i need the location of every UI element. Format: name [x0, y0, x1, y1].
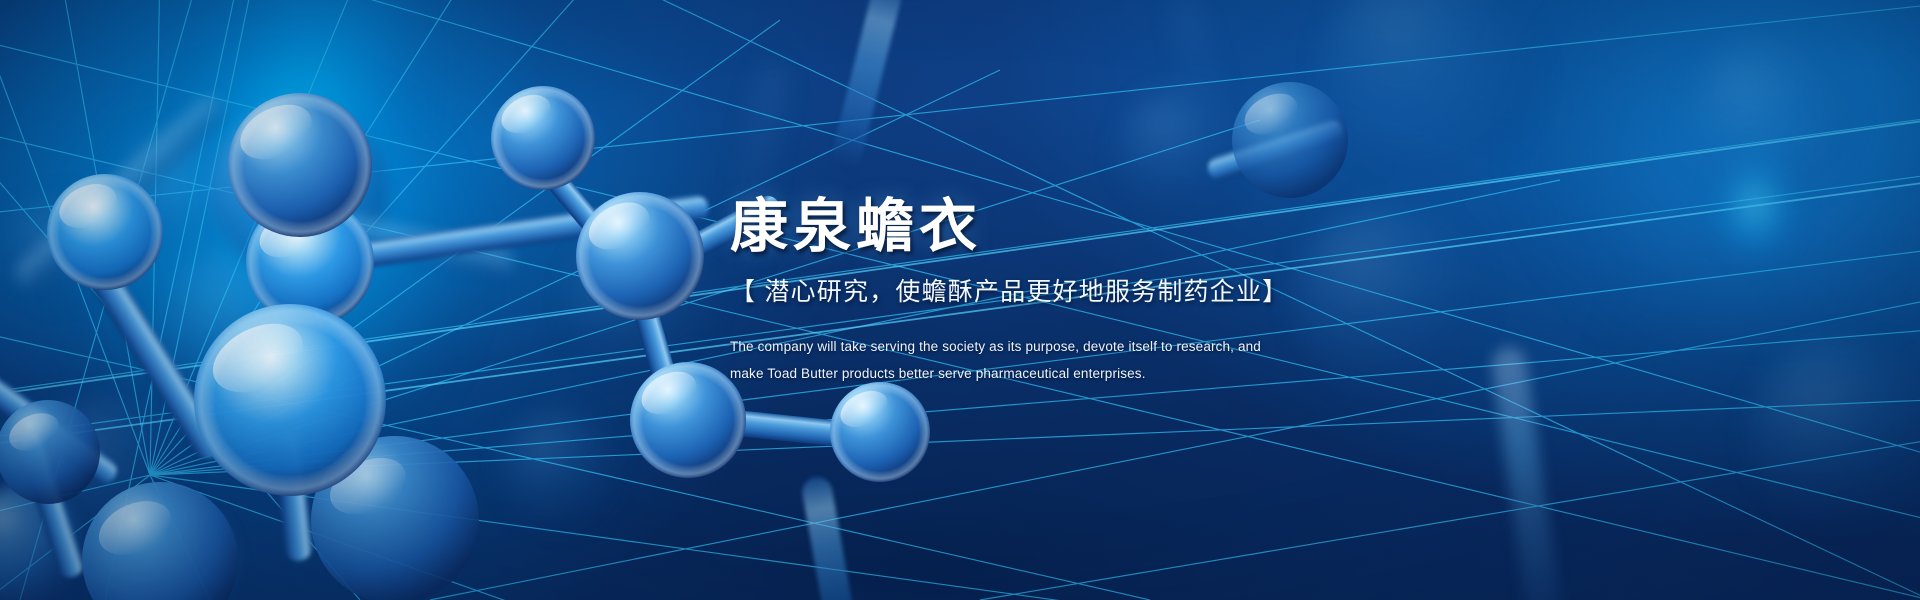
- brand-title: 康泉蟾衣: [730, 196, 1550, 257]
- hero-banner: 康泉蟾衣 【 潜心研究，使蟾酥产品更好地服务制药企业】 The company …: [0, 0, 1920, 600]
- brand-subtitle: 【 潜心研究，使蟾酥产品更好地服务制药企业】: [730, 277, 1550, 307]
- english-description: The company will take serving the societ…: [730, 333, 1550, 387]
- english-line-2: make Toad Butter products better serve p…: [730, 360, 1550, 387]
- english-line-1: The company will take serving the societ…: [730, 333, 1550, 360]
- hero-copy-block: 康泉蟾衣 【 潜心研究，使蟾酥产品更好地服务制药企业】 The company …: [730, 196, 1550, 387]
